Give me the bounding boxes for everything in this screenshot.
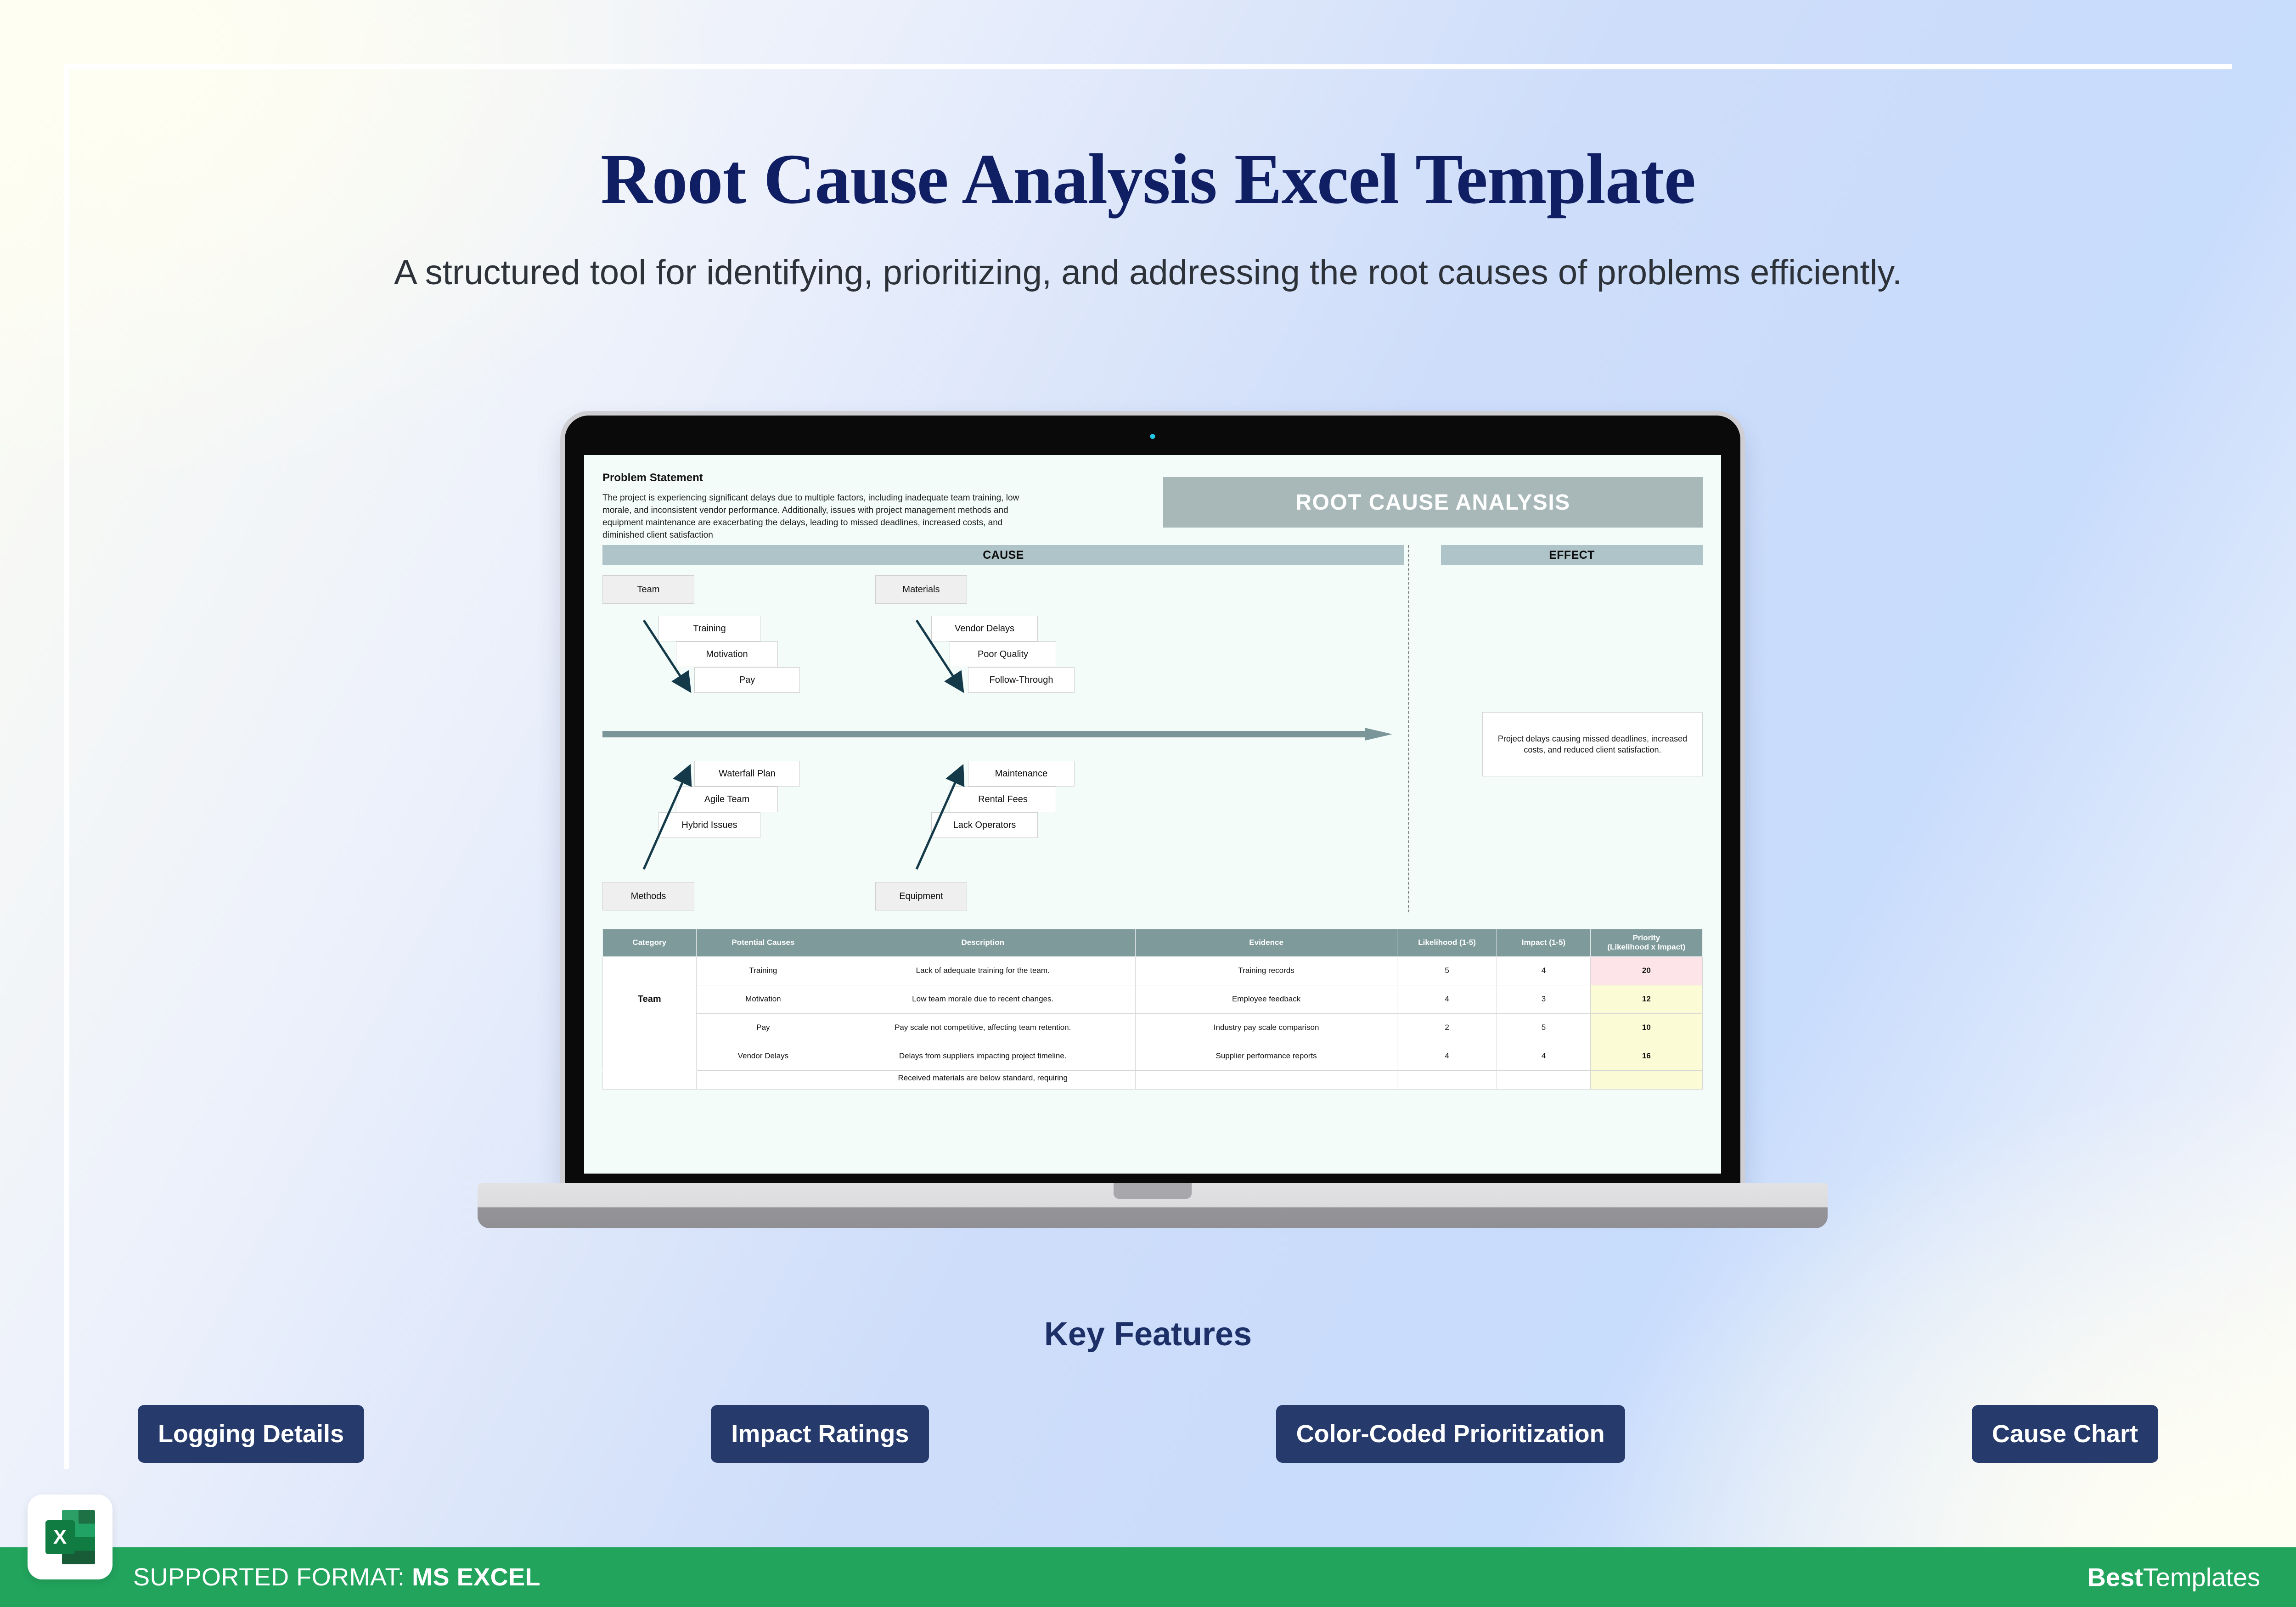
problem-statement-body: The project is experiencing significant … [602, 492, 1030, 542]
cell-category [603, 1070, 697, 1089]
laptop-lid: Problem Statement The project is experie… [565, 416, 1740, 1191]
excel-x-letter: X [45, 1520, 75, 1554]
cell-category: Team [603, 956, 697, 1042]
column-header-description: Description [830, 929, 1136, 957]
fishbone-cause-training: Training [658, 616, 760, 641]
column-header-priority: Priority (Likelihood x Impact) [1590, 929, 1702, 957]
cell-impact: 4 [1497, 956, 1591, 985]
fishbone-cause-hybrid-issues: Hybrid Issues [658, 812, 760, 838]
cell-cause: Motivation [696, 985, 830, 1013]
cell-cause [696, 1070, 830, 1089]
cell-description: Pay scale not competitive, affecting tea… [830, 1013, 1136, 1042]
column-header-potential-causes: Potential Causes [696, 929, 830, 957]
priority-header-line1: Priority [1633, 933, 1660, 942]
column-header-impact: Impact (1-5) [1497, 929, 1591, 957]
footer-bar: SUPPORTED FORMAT: MS EXCEL BestTemplates [0, 1547, 2296, 1607]
fishbone-diagram: Team Materials Methods Equipment Trainin… [602, 575, 1404, 910]
root-cause-table: Category Potential Causes Description Ev… [602, 929, 1703, 1090]
laptop-screen: Problem Statement The project is experie… [584, 455, 1721, 1174]
table-row: Team Training Lack of adequate training … [603, 956, 1703, 985]
cell-impact [1497, 1070, 1591, 1089]
column-header-evidence: Evidence [1136, 929, 1397, 957]
cell-likelihood: 4 [1397, 985, 1497, 1013]
fishbone-cause-agile-team: Agile Team [676, 787, 778, 812]
brand-bold: Best [2087, 1563, 2143, 1592]
feature-button-impact-ratings[interactable]: Impact Ratings [711, 1405, 929, 1463]
supported-format-prefix: SUPPORTED FORMAT: [133, 1563, 412, 1591]
fishbone-category-materials: Materials [875, 575, 967, 604]
fishbone-cause-motivation: Motivation [676, 641, 778, 667]
key-features-row: Logging Details Impact Ratings Color-Cod… [138, 1405, 2158, 1463]
fishbone-cause-maintenance: Maintenance [968, 761, 1075, 787]
cause-effect-band-row: CAUSE EFFECT [602, 545, 1703, 565]
fishbone-cause-rental-fees: Rental Fees [950, 787, 1056, 812]
brand-logo: BestTemplates [2087, 1562, 2260, 1592]
cell-priority [1590, 1070, 1702, 1089]
brand-light: Templates [2143, 1563, 2260, 1592]
fishbone-cause-pay: Pay [694, 667, 800, 693]
cell-likelihood: 4 [1397, 1042, 1497, 1070]
cell-impact: 4 [1497, 1042, 1591, 1070]
cell-evidence: Industry pay scale comparison [1136, 1013, 1397, 1042]
cell-description: Low team morale due to recent changes. [830, 985, 1136, 1013]
cell-evidence: Training records [1136, 956, 1397, 985]
page-subtitle: A structured tool for identifying, prior… [285, 252, 2011, 294]
fishbone-category-team: Team [602, 575, 694, 604]
table-row: Motivation Low team morale due to recent… [603, 985, 1703, 1013]
supported-format-value: MS EXCEL [412, 1563, 540, 1591]
cause-effect-divider [1408, 545, 1409, 912]
cell-evidence [1136, 1070, 1397, 1089]
camera-icon [1150, 434, 1155, 439]
laptop-mockup: Problem Statement The project is experie… [565, 416, 1740, 1224]
cell-cause: Training [696, 956, 830, 985]
fishbone-spine-arrow-icon [602, 728, 1401, 741]
column-header-category: Category [603, 929, 697, 957]
table-row-clipped: Received materials are below standard, r… [603, 1070, 1703, 1089]
cell-description: Lack of adequate training for the team. [830, 956, 1136, 985]
cell-cause: Vendor Delays [696, 1042, 830, 1070]
supported-format-text: SUPPORTED FORMAT: MS EXCEL [133, 1563, 540, 1591]
cell-cause: Pay [696, 1013, 830, 1042]
cell-priority: 12 [1590, 985, 1702, 1013]
cell-impact: 5 [1497, 1013, 1591, 1042]
fishbone-category-methods: Methods [602, 882, 694, 910]
cell-evidence: Supplier performance reports [1136, 1042, 1397, 1070]
page-title: Root Cause Analysis Excel Template [0, 138, 2296, 220]
cause-band: CAUSE [602, 545, 1404, 565]
table-header-row: Category Potential Causes Description Ev… [603, 929, 1703, 957]
cell-likelihood [1397, 1070, 1497, 1089]
feature-button-color-coded-prioritization[interactable]: Color-Coded Prioritization [1276, 1405, 1625, 1463]
cell-priority: 16 [1590, 1042, 1702, 1070]
cell-impact: 3 [1497, 985, 1591, 1013]
excel-icon: X [45, 1510, 95, 1564]
cell-evidence: Employee feedback [1136, 985, 1397, 1013]
table-row: Vendor Delays Delays from suppliers impa… [603, 1042, 1703, 1070]
fishbone-cause-waterfall-plan: Waterfall Plan [694, 761, 800, 787]
root-cause-analysis-banner: ROOT CAUSE ANALYSIS [1163, 477, 1703, 528]
fishbone-cause-lack-operators: Lack Operators [931, 812, 1038, 838]
cell-description: Received materials are below standard, r… [830, 1070, 1136, 1089]
fishbone-cause-poor-quality: Poor Quality [950, 641, 1056, 667]
feature-button-cause-chart[interactable]: Cause Chart [1972, 1405, 2158, 1463]
fishbone-cause-follow-through: Follow-Through [968, 667, 1075, 693]
excel-file-badge: X [28, 1495, 113, 1579]
cell-priority: 10 [1590, 1013, 1702, 1042]
cell-likelihood: 2 [1397, 1013, 1497, 1042]
cell-description: Delays from suppliers impacting project … [830, 1042, 1136, 1070]
cell-category [603, 1042, 697, 1070]
feature-button-logging-details[interactable]: Logging Details [138, 1405, 364, 1463]
key-features-title: Key Features [0, 1315, 2296, 1353]
table-row: Pay Pay scale not competitive, affecting… [603, 1013, 1703, 1042]
priority-header-line2: (Likelihood x Impact) [1607, 943, 1685, 951]
laptop-notch [1114, 1183, 1192, 1199]
spreadsheet-canvas: Problem Statement The project is experie… [584, 455, 1721, 1174]
fishbone-category-equipment: Equipment [875, 882, 967, 910]
effect-statement-box: Project delays causing missed deadlines,… [1482, 712, 1703, 776]
fishbone-cause-vendor-delays: Vendor Delays [931, 616, 1038, 641]
column-header-likelihood: Likelihood (1-5) [1397, 929, 1497, 957]
cell-priority: 20 [1590, 956, 1702, 985]
effect-band: EFFECT [1441, 545, 1703, 565]
cell-likelihood: 5 [1397, 956, 1497, 985]
